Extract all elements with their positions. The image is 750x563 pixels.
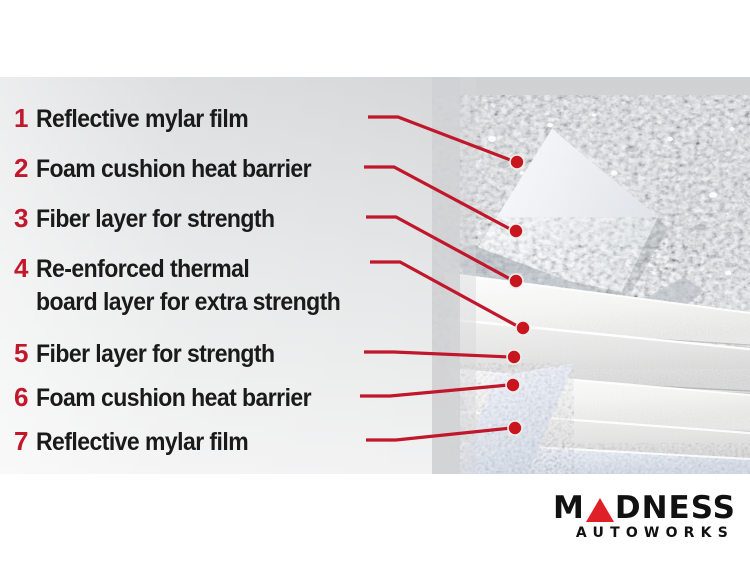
logo-wordmark: M DNESS (508, 493, 736, 523)
legend-item-4-line2: board layer for extra strength (36, 288, 367, 317)
legend-item-4: 4 Re-enforced thermal (14, 253, 268, 284)
legend-item-2: 2 Foam cushion heat barrier (14, 153, 335, 184)
legend-label-2: Foam cushion heat barrier (36, 155, 311, 184)
legend-item-7: 7 Reflective mylar film (14, 426, 267, 457)
legend-label-7: Reflective mylar film (36, 428, 248, 457)
logo-word-after: DNESS (615, 493, 736, 523)
legend-item-1: 1 Reflective mylar film (14, 103, 267, 134)
legend-number-3: 3 (14, 203, 36, 234)
legend-number-4: 4 (14, 253, 36, 284)
madness-autoworks-logo: M DNESS AUTOWORKS (508, 493, 736, 549)
legend-number-5: 5 (14, 338, 36, 369)
infographic-canvas: 1 Reflective mylar film 2 Foam cushion h… (0, 0, 750, 563)
legend-label-4-line2: board layer for extra strength (36, 288, 340, 317)
logo-subtitle: AUTOWORKS (508, 525, 736, 541)
product-photo (432, 77, 750, 474)
legend-number-7: 7 (14, 426, 36, 457)
legend-number-1: 1 (14, 103, 36, 134)
legend-item-6: 6 Foam cushion heat barrier (14, 382, 335, 413)
legend-item-5: 5 Fiber layer for strength (14, 338, 295, 369)
legend-item-3: 3 Fiber layer for strength (14, 203, 295, 234)
legend-label-3: Fiber layer for strength (36, 205, 275, 234)
legend-label-6: Foam cushion heat barrier (36, 384, 311, 413)
legend-label-5: Fiber layer for strength (36, 340, 275, 369)
legend-number-6: 6 (14, 382, 36, 413)
logo-word-before: M (553, 493, 585, 523)
legend-number-2: 2 (14, 153, 36, 184)
legend-label-1: Reflective mylar film (36, 105, 248, 134)
legend-list: 1 Reflective mylar film 2 Foam cushion h… (0, 77, 440, 474)
layered-insulation-illustration (432, 77, 750, 474)
legend-label-4: Re-enforced thermal (36, 255, 249, 284)
red-triangle-a-icon (586, 498, 614, 522)
